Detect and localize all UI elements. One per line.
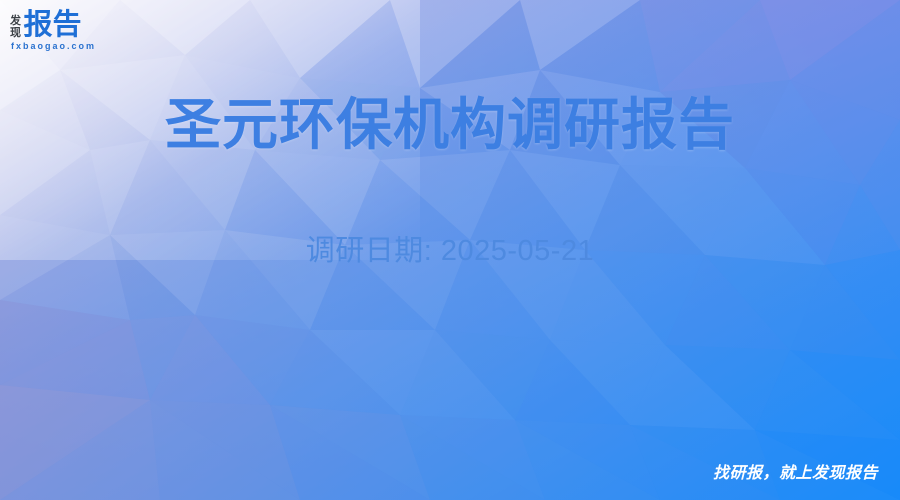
site-logo[interactable]: 发 现 报告 fxbaogao.com — [10, 9, 130, 52]
logo-stacked-characters: 发 现 — [10, 15, 21, 40]
logo-wordmark-text: 报告 — [24, 10, 82, 40]
report-cover-slide: 发 现 报告 fxbaogao.com 圣元环保机构调研报告 调研日期: 202… — [0, 0, 900, 500]
low-poly-background — [0, 0, 900, 500]
footer-tagline: 找研报，就上发现报告 — [713, 464, 878, 484]
logo-domain-text: fxbaogao.com — [11, 41, 130, 52]
logo-char-fa: 发 — [10, 15, 21, 27]
logo-wordmark-row: 发 现 报告 — [10, 9, 130, 40]
logo-char-xian: 现 — [10, 27, 21, 39]
